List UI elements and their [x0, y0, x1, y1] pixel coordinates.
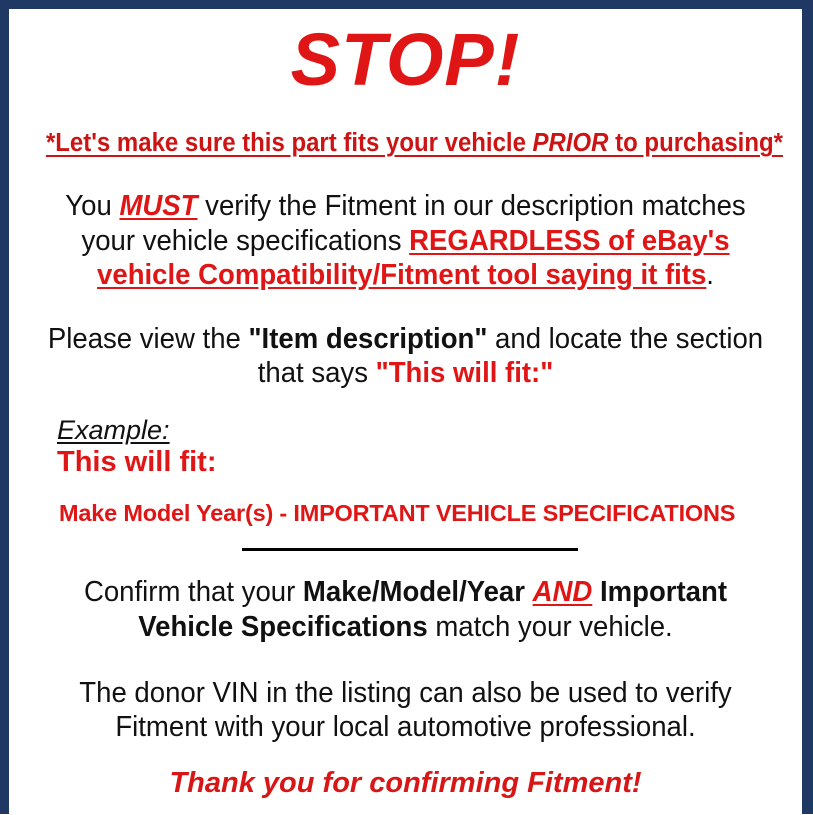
- must-seg3: .: [706, 259, 714, 291]
- confirm-seg2: match your vehicle.: [428, 611, 673, 643]
- tagline-banner: *Let's make sure this part fits your veh…: [46, 129, 765, 159]
- paragraph-confirm: Confirm that your Make/Model/Year AND Im…: [42, 575, 769, 643]
- fitment-notice-body: STOP! *Let's make sure this part fits yo…: [9, 23, 802, 815]
- example-label: Example:: [57, 416, 170, 444]
- paragraph-donor-vin: The donor VIN in the listing can also be…: [42, 676, 769, 744]
- example-spec-line: Make Model Year(s) - IMPORTANT VEHICLE S…: [57, 501, 788, 527]
- confirm-emphasis-and: AND: [533, 576, 593, 608]
- tagline-emphasis-prior: PRIOR: [533, 129, 609, 157]
- example-label-row: Example:: [57, 416, 788, 444]
- divider-wrapper: [23, 548, 788, 551]
- must-seg1: You: [65, 190, 119, 222]
- example-fit-heading: This will fit:: [57, 447, 788, 479]
- confirm-emphasis-make-model-year: Make/Model/Year: [303, 576, 533, 608]
- confirm-seg1: Confirm that your: [84, 576, 303, 608]
- tagline-text-before: *Let's make sure this part fits your veh…: [46, 129, 533, 157]
- fitment-notice-frame: STOP! *Let's make sure this part fits yo…: [0, 0, 813, 814]
- view-emphasis-item-description: "Item description": [248, 323, 487, 355]
- view-emphasis-this-will-fit: "This will fit:": [376, 357, 554, 389]
- page-title: STOP!: [23, 23, 788, 97]
- closing-thank-you: Thank you for confirming Fitment!: [23, 768, 788, 800]
- example-block: Example: This will fit: Make Model Year(…: [23, 416, 788, 526]
- horizontal-rule-divider: [242, 548, 578, 551]
- must-emphasis-must: MUST: [119, 190, 197, 222]
- view-seg1: Please view the: [48, 323, 249, 355]
- paragraph-item-description: Please view the "Item description" and l…: [42, 322, 769, 390]
- paragraph-must-verify: You MUST verify the Fitment in our descr…: [42, 189, 769, 292]
- tagline-text-after: to purchasing*: [608, 129, 782, 157]
